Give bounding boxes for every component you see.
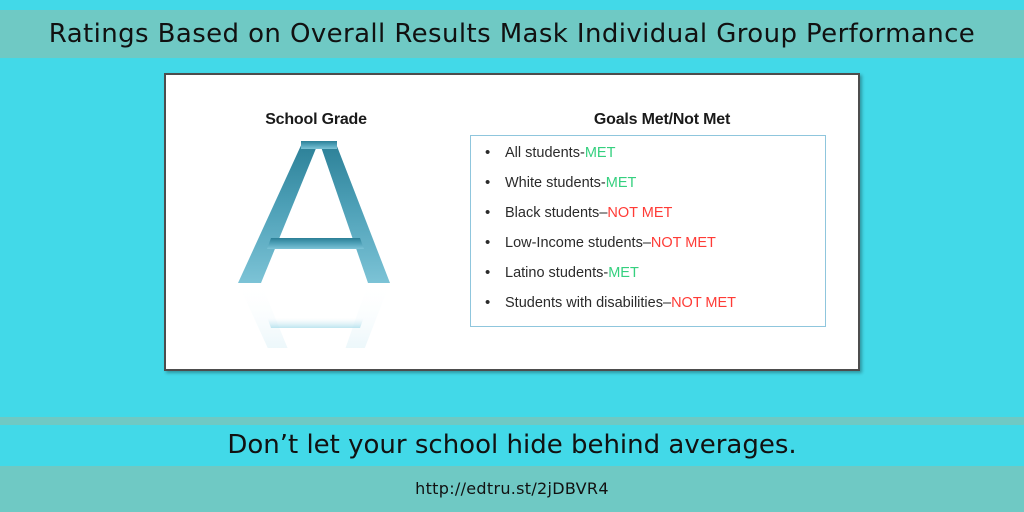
list-item: • White students - MET	[471, 175, 825, 205]
goal-separator: –	[643, 235, 651, 251]
goals-heading: Goals Met/Not Met	[466, 111, 858, 129]
goal-group-label: Low-Income students	[505, 235, 643, 251]
school-grade-column: School Grade	[166, 75, 466, 369]
goal-group-label: Students with disabilities	[505, 295, 663, 311]
list-item: • Students with disabilities – NOT MET	[471, 295, 825, 325]
bullet-icon: •	[485, 265, 505, 280]
school-grade-heading: School Grade	[166, 111, 466, 129]
footer-url-link[interactable]: http://edtru.st/2jDBVR4	[0, 466, 1024, 512]
content-card: School Grade	[164, 73, 860, 371]
goals-list-box: • All students - MET • White students - …	[470, 135, 826, 327]
status-badge: NOT MET	[671, 295, 736, 311]
bullet-icon: •	[485, 205, 505, 220]
goal-separator: –	[663, 295, 671, 311]
goal-separator: –	[599, 205, 607, 221]
bullet-icon: •	[485, 175, 505, 190]
goal-group-label: All students	[505, 145, 580, 161]
list-item: • Low-Income students – NOT MET	[471, 235, 825, 265]
list-item: • Black students – NOT MET	[471, 205, 825, 235]
goal-group-label: Black students	[505, 205, 599, 221]
list-item: • All students - MET	[471, 145, 825, 175]
goals-column: Goals Met/Not Met • All students - MET •…	[466, 75, 858, 369]
bullet-icon: •	[485, 295, 505, 310]
goal-group-label: White students	[505, 175, 601, 191]
divider-strip-band	[0, 417, 1024, 425]
poster-canvas: Ratings Based on Overall Results Mask In…	[0, 0, 1024, 512]
status-badge: MET	[606, 175, 637, 191]
bullet-icon: •	[485, 145, 505, 160]
page-title: Ratings Based on Overall Results Mask In…	[0, 10, 1024, 58]
list-item: • Latino students - MET	[471, 265, 825, 295]
status-badge: NOT MET	[651, 235, 716, 251]
bullet-icon: •	[485, 235, 505, 250]
status-badge: MET	[608, 265, 639, 281]
status-badge: NOT MET	[607, 205, 672, 221]
goal-group-label: Latino students	[505, 265, 603, 281]
status-badge: MET	[585, 145, 616, 161]
letter-a-graphic-icon	[218, 133, 408, 348]
tagline-text: Don’t let your school hide behind averag…	[0, 425, 1024, 466]
